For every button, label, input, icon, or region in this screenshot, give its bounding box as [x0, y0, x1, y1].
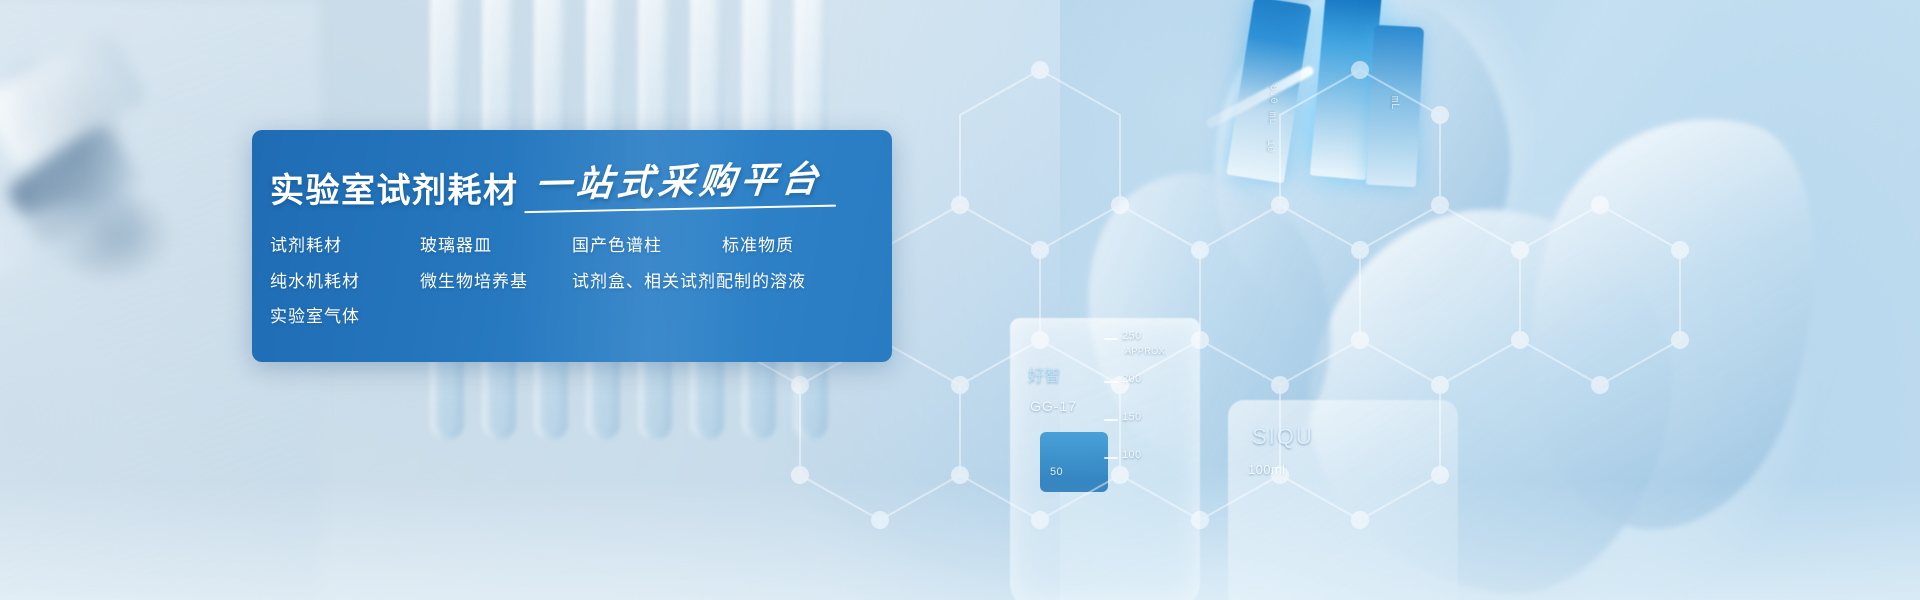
beaker-graduation-100: 100: [1122, 449, 1142, 461]
beaker-approx-label: APPROX: [1125, 346, 1165, 356]
category-tag-grid: 试剂耗材 玻璃器皿 国产色谱柱 标准物质 纯水机耗材 微生物培养基 试剂盒、相关…: [270, 236, 892, 327]
beaker-graduation-50: 50: [1050, 466, 1063, 478]
beaker-code-label: GG-17: [1030, 398, 1077, 414]
category-tag[interactable]: 微生物培养基: [420, 272, 572, 292]
category-tag[interactable]: 试剂耗材: [270, 236, 420, 256]
beaker-tick-150: [1104, 419, 1118, 421]
beaker-graduation-200: 200: [1122, 373, 1142, 385]
headline-script-text: 一站式采购平台: [526, 161, 828, 211]
category-tag[interactable]: 实验室气体: [270, 307, 892, 327]
beaker-graduation-150: 150: [1122, 411, 1142, 423]
headline-main-text: 实验室试剂耗材: [270, 174, 519, 208]
category-tag[interactable]: 试剂盒、相关试剂配制的溶液: [572, 272, 892, 292]
category-tag[interactable]: 标准物质: [722, 236, 794, 256]
beaker-brand-label: 好智: [1028, 362, 1061, 386]
flask-volume-label: 100ml: [1248, 462, 1285, 477]
beaker-tick-250: [1104, 338, 1118, 340]
vial-label-unit: mL: [1264, 112, 1277, 125]
category-tag[interactable]: 玻璃器皿: [420, 236, 572, 256]
flask-brand-label: SIQU: [1252, 424, 1314, 450]
vial-label-number: 10: [1262, 140, 1275, 153]
headline: 实验室试剂耗材 一站式采购平台: [270, 164, 892, 208]
category-tag[interactable]: 纯水机耗材: [270, 272, 420, 292]
beaker-tick-200: [1104, 381, 1118, 383]
bottom-fade: [0, 480, 1920, 600]
beaker-graduation-250: 250: [1122, 330, 1142, 342]
beaker-tick-100: [1104, 457, 1118, 459]
category-tag-pair: 国产色谱柱 标准物质: [572, 236, 892, 256]
promo-card: 实验室试剂耗材 一站式采购平台 试剂耗材 玻璃器皿 国产色谱柱 标准物质 纯水机…: [252, 130, 892, 362]
vial-label-volume: 8.0: [1266, 84, 1279, 104]
category-tag[interactable]: 国产色谱柱: [572, 236, 662, 256]
vial-label-side: mL: [1386, 96, 1400, 110]
hero-banner: 8.0 mL 10 mL 250 APPROX 200 150 100 50 好…: [0, 0, 1920, 600]
